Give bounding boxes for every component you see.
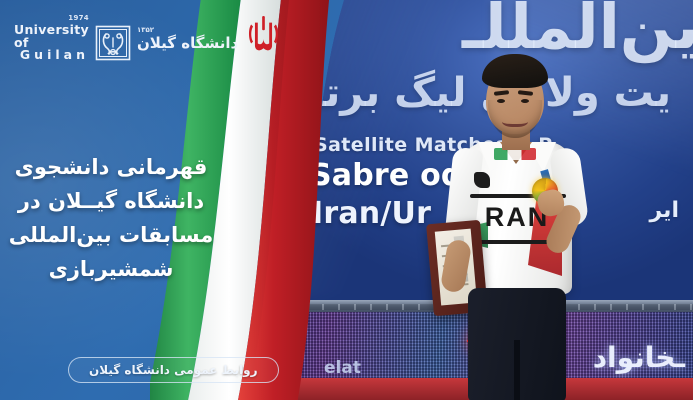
backdrop-persian-side-text: ایر bbox=[650, 198, 680, 223]
photo-content: ین‌المللـ یت وﻻنال لیگ برتر Satellite Ma… bbox=[226, 0, 693, 400]
athlete-smile bbox=[502, 114, 528, 127]
news-banner: ین‌المللـ یت وﻻنال لیگ برتر Satellite Ma… bbox=[0, 0, 693, 400]
athlete-eye-right bbox=[521, 99, 529, 103]
university-logo-persian: ۱۳۵۲ دانشگاه گیلان bbox=[137, 35, 238, 52]
athlete-shorts-split bbox=[514, 340, 520, 400]
logo-year-persian: ۱۳۵۲ bbox=[137, 27, 154, 35]
event-photo: ین‌المللـ یت وﻻنال لیگ برتر Satellite Ma… bbox=[226, 0, 693, 400]
headline-line-2: دانشگاه گیــلان در bbox=[0, 184, 222, 218]
logo-persian-name: دانشگاه گیلان bbox=[137, 35, 238, 52]
ribbon-shading bbox=[236, 0, 290, 400]
headline-line-3: مسابقات بین‌المللی bbox=[0, 218, 222, 252]
logo-english-line1: University of bbox=[14, 24, 89, 50]
backdrop-english-line3: Iran/Ur bbox=[312, 196, 431, 231]
university-logo[interactable]: 1974 University of Guilan ۱۳۵۲ دانشگاه گ… bbox=[14, 18, 174, 68]
guilan-university-emblem-icon bbox=[95, 25, 131, 61]
logo-english-line2: Guilan bbox=[20, 49, 89, 62]
athlete-hair bbox=[482, 54, 548, 88]
headline: قهرمانی دانشجوی دانشگاه گیــلان در مسابق… bbox=[0, 150, 222, 286]
headline-line-1: قهرمانی دانشجوی bbox=[0, 150, 222, 184]
athlete-eye-left bbox=[497, 99, 505, 103]
jersey-brand-logo-icon bbox=[474, 172, 490, 188]
logo-year-gregorian: 1974 bbox=[68, 15, 89, 22]
headline-line-4: شمشیربازی bbox=[0, 252, 222, 286]
iran-emblem-icon bbox=[249, 16, 278, 50]
university-logo-english: 1974 University of Guilan bbox=[14, 24, 89, 62]
led-latin-text: elat bbox=[324, 358, 361, 378]
athlete-figure: RAN bbox=[422, 44, 622, 400]
public-relations-badge[interactable]: روابط عمومی دانشگاه گیلان bbox=[68, 357, 279, 383]
